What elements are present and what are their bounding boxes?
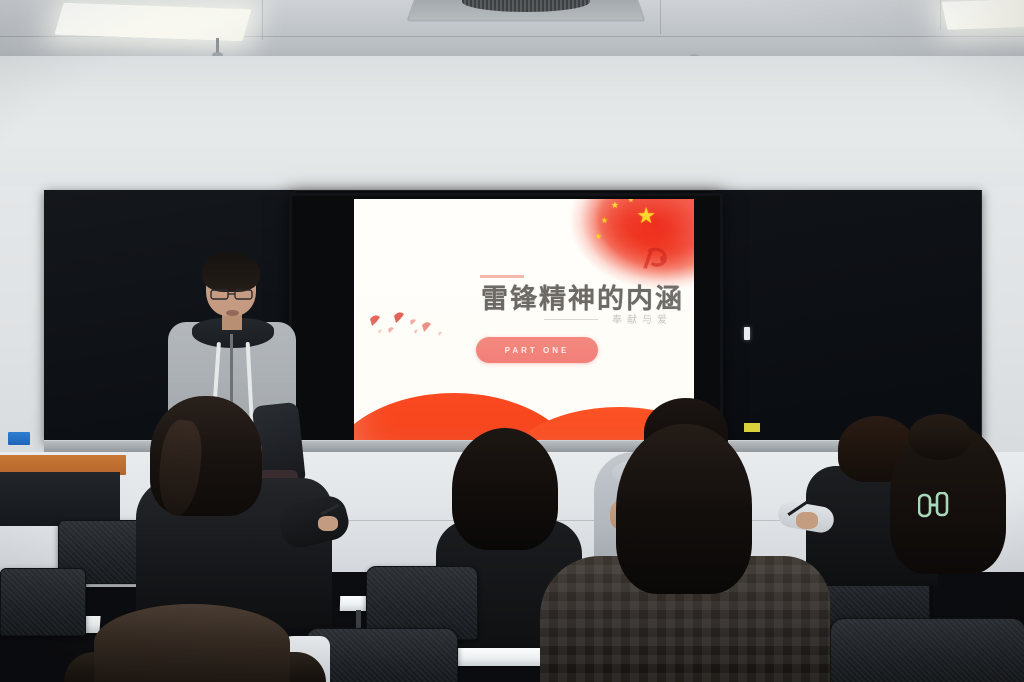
student-hand (796, 512, 818, 529)
flag-star-icon: ★ (601, 217, 608, 225)
hair-clip-icon (918, 492, 954, 518)
flag-star-icon: ★ (628, 199, 634, 204)
ceiling-grid-line (940, 0, 941, 30)
slide-subtitle: 奉献与爱 (354, 311, 672, 326)
blue-wall-sign (8, 432, 30, 445)
part-one-badge[interactable]: PART ONE (476, 337, 598, 363)
ceiling-grid-line (660, 0, 661, 34)
party-emblem-icon (638, 243, 672, 273)
upper-wall (0, 56, 1024, 192)
sticky-note[interactable] (744, 423, 760, 432)
presenter-mouth (226, 310, 239, 316)
ceiling-light-right (941, 0, 1024, 30)
student-head (616, 424, 752, 594)
classroom-chair (0, 568, 86, 636)
classroom-scene-photo: ★ ★ ★ ★ ★ 雷锋精神的内涵 奉献与爱 PART ONE (0, 0, 1024, 682)
classroom-chair (830, 618, 1024, 682)
blackboard-panel-right (714, 190, 981, 440)
hair-bun (908, 414, 972, 460)
whiteboard-marker[interactable] (744, 327, 750, 340)
ceiling-grid-line (262, 0, 263, 40)
student-hand (318, 516, 338, 531)
presentation-slide[interactable]: ★ ★ ★ ★ ★ 雷锋精神的内涵 奉献与爱 PART ONE (354, 199, 694, 457)
flag-star-icon: ★ (611, 201, 619, 210)
student-head (452, 428, 558, 550)
part-one-label: PART ONE (505, 346, 570, 355)
glasses-icon (210, 288, 254, 300)
flag-star-icon: ★ (636, 205, 656, 227)
wooden-podium-body (0, 472, 120, 526)
ceiling-light-left (54, 3, 251, 42)
presenter-hair (202, 252, 260, 292)
student-head (94, 604, 290, 682)
flag-star-icon: ★ (595, 233, 602, 241)
